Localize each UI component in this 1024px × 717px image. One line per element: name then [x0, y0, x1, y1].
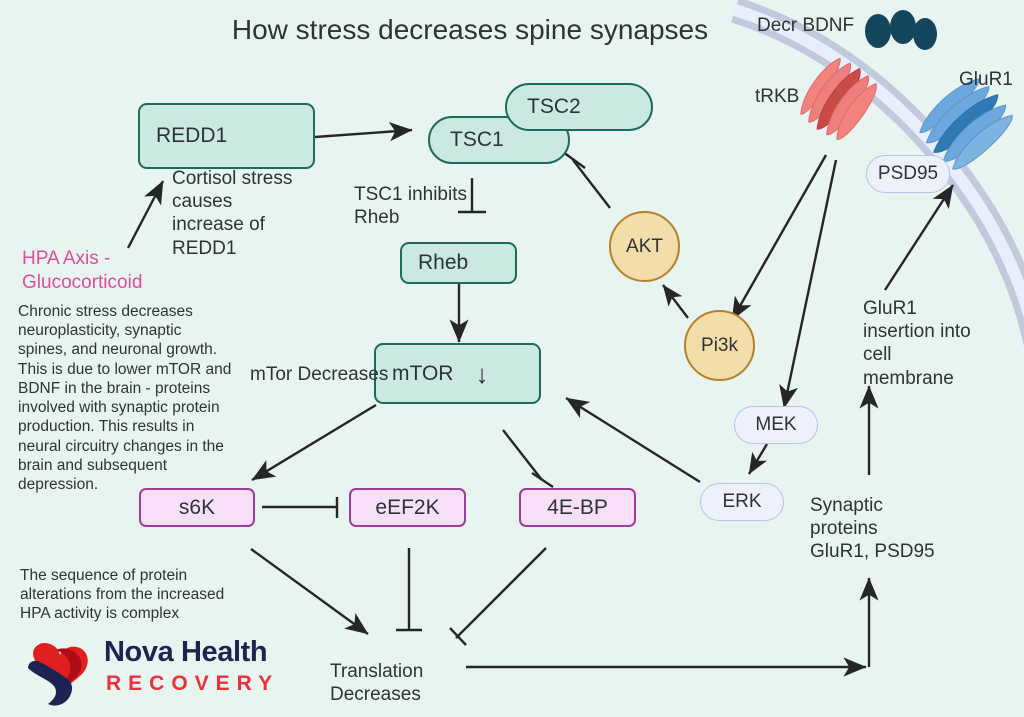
down-arrow-icon: ↓ [475, 361, 488, 387]
label-cortisol-stress: Cortisol stress causes increase of REDD1 [172, 167, 322, 260]
node-tsc2[interactable]: TSC2 [505, 83, 653, 131]
logo-wordmark: Nova Health [104, 636, 267, 669]
trkb-receptor-icon [793, 52, 884, 146]
logo-subtext: RECOVERY [106, 672, 279, 696]
label-glur1: GluR1 [959, 68, 1013, 91]
node-4ebp-label: 4E-BP [547, 496, 608, 520]
node-tsc1-label: TSC1 [450, 128, 504, 152]
node-akt[interactable]: AKT [609, 211, 680, 282]
label-tsc1-inhibits-rheb: TSC1 inhibits Rheb [354, 183, 489, 229]
node-mtor[interactable]: mTOR ↓ [374, 343, 541, 404]
node-eef2k-label: eEF2K [375, 496, 439, 520]
node-pi3k[interactable]: Pi3k [684, 310, 755, 381]
label-trkb: tRKB [755, 85, 799, 108]
node-rheb-label: Rheb [418, 251, 468, 275]
heart-hand-logo-icon [26, 638, 100, 708]
label-chronic-stress: Chronic stress decreases neuroplasticity… [18, 302, 248, 494]
label-sequence-note: The sequence of protein alterations from… [20, 566, 255, 624]
diagram-canvas: How stress decreases spine synapses REDD… [0, 0, 1024, 717]
label-mtor-decreases: mTor Decreases [250, 363, 388, 386]
node-redd1-label: REDD1 [156, 124, 227, 148]
nova-health-recovery-logo: Nova Health RECOVERY [26, 636, 286, 708]
node-mek-label: MEK [755, 414, 796, 436]
label-synaptic-proteins: Synaptic proteins GluR1, PSD95 [810, 494, 990, 564]
node-psd95[interactable]: PSD95 [866, 155, 950, 193]
node-rheb[interactable]: Rheb [400, 242, 517, 284]
label-decr-bdnf: Decr BDNF [757, 14, 854, 37]
node-tsc2-label: TSC2 [527, 95, 581, 119]
label-translation-decreases: Translation Decreases [330, 660, 460, 706]
node-s6k-label: s6K [179, 496, 215, 520]
node-pi3k-label: Pi3k [701, 335, 738, 357]
node-mtor-label: mTOR [392, 362, 453, 386]
node-akt-label: AKT [626, 236, 663, 258]
node-psd95-label: PSD95 [878, 163, 938, 185]
node-erk-label: ERK [722, 491, 761, 513]
node-redd1[interactable]: REDD1 [138, 103, 315, 169]
label-hpa-axis: HPA Axis - Glucocorticoid [22, 247, 202, 295]
node-eef2k[interactable]: eEF2K [349, 488, 466, 527]
node-mek[interactable]: MEK [734, 406, 818, 444]
node-erk[interactable]: ERK [700, 483, 784, 521]
label-glur1-insertion: GluR1 insertion into cell membrane [863, 297, 1013, 390]
node-4ebp[interactable]: 4E-BP [519, 488, 636, 527]
